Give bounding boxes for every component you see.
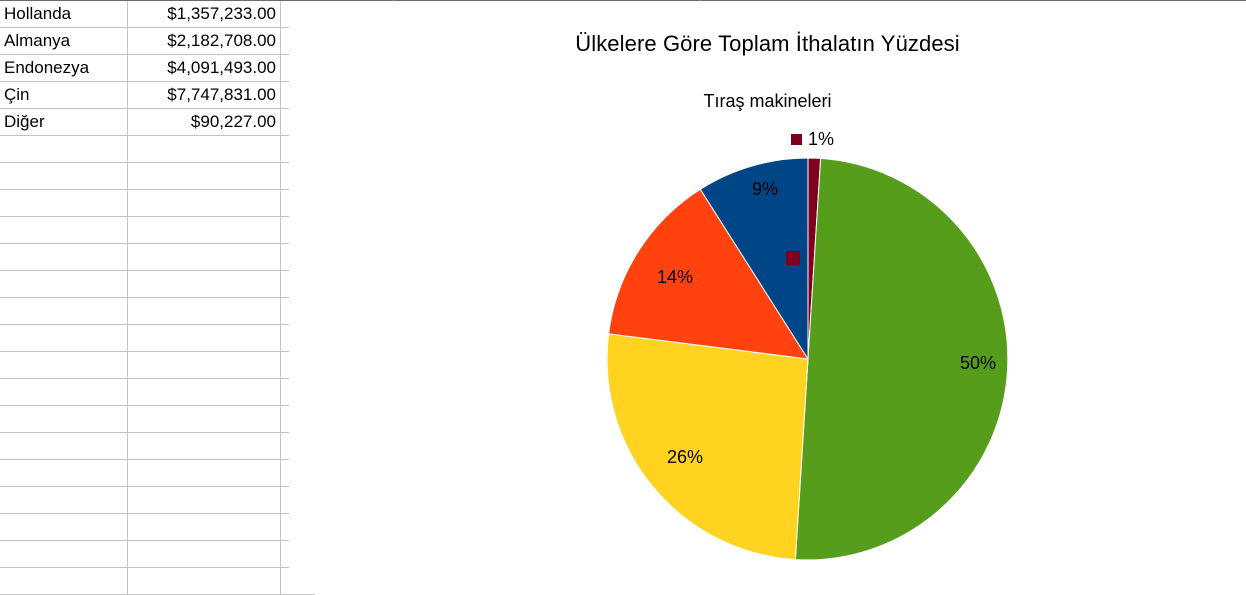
cell-amount[interactable]: $1,357,233.00 <box>128 1 281 28</box>
table-row[interactable] <box>0 136 315 163</box>
table-body: Hollanda$1,357,233.00Almanya$2,182,708.0… <box>0 1 315 595</box>
table-row[interactable]: Çin$7,747,831.00 <box>0 82 315 109</box>
cell-country[interactable] <box>0 514 128 541</box>
table-row[interactable] <box>0 460 315 487</box>
table-row[interactable] <box>0 244 315 271</box>
cell-amount[interactable] <box>128 568 281 595</box>
table-row[interactable] <box>0 163 315 190</box>
table-row[interactable] <box>0 487 315 514</box>
table-row[interactable]: Hollanda$1,357,233.00 <box>0 1 315 28</box>
cell-country[interactable]: Hollanda <box>0 1 128 28</box>
cell-country[interactable] <box>0 217 128 244</box>
data-label-endonezya: 26% <box>667 447 703 468</box>
cell-amount[interactable] <box>128 163 281 190</box>
table-row[interactable] <box>0 568 315 595</box>
table-row[interactable] <box>0 433 315 460</box>
cell-country[interactable]: Çin <box>0 82 128 109</box>
pie-slice-endonezya[interactable] <box>607 334 808 560</box>
table-row[interactable] <box>0 352 315 379</box>
plot-area: 9% 14% 26% 50% 1% <box>289 1 1246 576</box>
cell-amount[interactable] <box>128 406 281 433</box>
table-row[interactable] <box>0 406 315 433</box>
cell-amount[interactable] <box>128 271 281 298</box>
cell-amount[interactable] <box>128 460 281 487</box>
cell-country[interactable] <box>0 406 128 433</box>
table-row[interactable] <box>0 379 315 406</box>
pie-slice-group[interactable] <box>607 158 1008 560</box>
table-row[interactable] <box>0 325 315 352</box>
cell-amount[interactable] <box>128 298 281 325</box>
table-row[interactable]: Almanya$2,182,708.00 <box>0 28 315 55</box>
cell-amount[interactable]: $7,747,831.00 <box>128 82 281 109</box>
cell-country[interactable] <box>0 298 128 325</box>
cell-country[interactable] <box>0 487 128 514</box>
data-label-diger-key <box>791 134 802 145</box>
cell-amount[interactable] <box>128 217 281 244</box>
cell-country[interactable] <box>0 190 128 217</box>
cell-amount[interactable] <box>128 136 281 163</box>
cell-amount[interactable]: $2,182,708.00 <box>128 28 281 55</box>
cell-country[interactable] <box>0 433 128 460</box>
screen-root: Hollanda$1,357,233.00Almanya$2,182,708.0… <box>0 0 1246 576</box>
cell-country[interactable] <box>0 271 128 298</box>
table-row[interactable] <box>0 298 315 325</box>
cell-country[interactable] <box>0 244 128 271</box>
cell-amount[interactable] <box>128 514 281 541</box>
table-row[interactable] <box>0 514 315 541</box>
cell-country[interactable]: Almanya <box>0 28 128 55</box>
cell-country[interactable] <box>0 352 128 379</box>
table-row[interactable] <box>0 541 315 568</box>
pie-svg <box>289 1 1246 576</box>
cell-amount[interactable] <box>128 325 281 352</box>
table-row[interactable] <box>0 271 315 298</box>
cell-amount[interactable] <box>128 487 281 514</box>
spreadsheet-grid[interactable]: Hollanda$1,357,233.00Almanya$2,182,708.0… <box>0 1 289 576</box>
table-row[interactable]: Endonezya$4,091,493.00 <box>0 55 315 82</box>
cell-amount[interactable] <box>128 352 281 379</box>
data-label-almanya: 14% <box>657 267 693 288</box>
cell-country[interactable] <box>0 460 128 487</box>
data-table[interactable]: Hollanda$1,357,233.00Almanya$2,182,708.0… <box>0 1 315 595</box>
cell-country[interactable] <box>0 136 128 163</box>
cell-amount[interactable] <box>128 541 281 568</box>
cell-country[interactable] <box>0 541 128 568</box>
cell-amount[interactable]: $4,091,493.00 <box>128 55 281 82</box>
cell-amount[interactable] <box>128 433 281 460</box>
cell-country[interactable] <box>0 325 128 352</box>
cell-amount[interactable]: $90,227.00 <box>128 109 281 136</box>
cell-country[interactable] <box>0 379 128 406</box>
pie-chart-object[interactable]: Ülkelere Göre Toplam İthalatın Yüzdesi T… <box>289 1 1246 576</box>
cell-amount[interactable] <box>128 190 281 217</box>
cell-amount[interactable] <box>128 379 281 406</box>
cell-country[interactable]: Endonezya <box>0 55 128 82</box>
cell-amount[interactable] <box>128 244 281 271</box>
cell-country[interactable] <box>0 163 128 190</box>
table-row[interactable] <box>0 217 315 244</box>
data-point-marker-square[interactable] <box>786 251 800 265</box>
data-label-diger-text: 1% <box>808 129 834 150</box>
table-row[interactable] <box>0 190 315 217</box>
table-row[interactable]: Diğer$90,227.00 <box>0 109 315 136</box>
cell-country[interactable] <box>0 568 128 595</box>
data-label-cin: 50% <box>960 353 996 374</box>
data-label-hollanda: 9% <box>752 179 778 200</box>
data-label-diger: 1% <box>791 129 834 150</box>
cell-country[interactable]: Diğer <box>0 109 128 136</box>
